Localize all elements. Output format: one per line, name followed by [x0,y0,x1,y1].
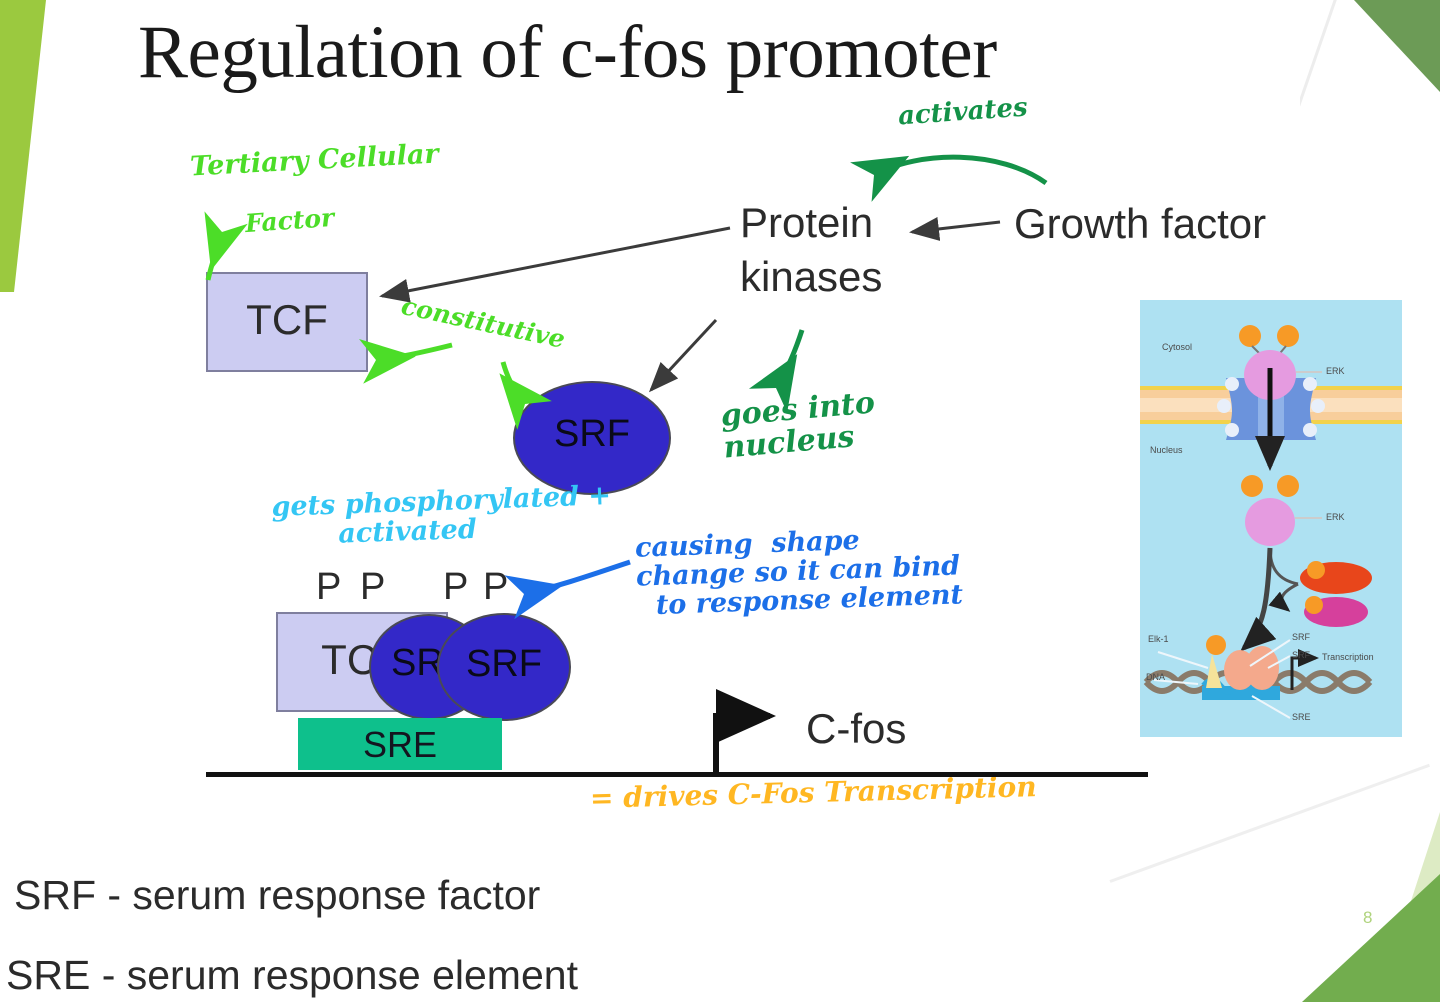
inset-label-srf-a: SRF [1292,632,1310,642]
inset-label-erk-top: ERK [1326,366,1345,376]
inset-label-erk-bottom: ERK [1326,512,1345,522]
srf-ellipse-top: SRF [513,381,671,495]
annotation-constitutive: constitutive [399,292,567,353]
left-green-wedge-decoration [0,0,50,292]
sre-box: SRE [298,718,502,770]
label-cfos: C-fos [806,705,906,753]
annotation-goes-into-nucleus: goes into nucleus [719,387,879,465]
annotation-activates: activates [897,94,1028,131]
phosphate-mark-1: P [316,566,341,609]
label-growth-factor: Growth factor [1014,200,1266,248]
tcf-box-top: TCF [206,272,368,372]
annotation-gets-phosphorylated: gets phosphorylated + activated [271,481,612,551]
inset-figure-graphic [1140,300,1402,737]
srf-ellipse-top-label: SRF [515,413,669,456]
erk-pathway-inset-figure: Cytosol Nucleus ERK ERK Elk-1 DNA SRF SR… [1140,300,1402,737]
legend-sre: SRE - serum response element [6,952,578,999]
sre-box-label: SRE [298,724,502,766]
inset-label-elk1: Elk-1 [1148,634,1169,644]
annotation-tertiary-cellular: Tertiary Cellular [189,140,439,182]
inset-label-srf-b: SRF [1292,650,1310,660]
annotation-factor: Factor [244,204,335,237]
dna-baseline [206,772,1148,777]
inset-label-dna: DNA [1146,672,1165,682]
slide-number: 8 [1363,908,1372,928]
annotation-shape-change: causing shape change so it can bind to r… [635,522,964,621]
bottom-right-corner-decoration [1230,812,1440,1002]
inset-label-cytosol: Cytosol [1162,342,1192,352]
inset-label-transcription: Transcription [1322,652,1374,662]
srf-ellipse-bottom-2: SRF [437,613,571,721]
inset-label-nucleus: Nucleus [1150,445,1183,455]
label-protein-kinases: Protein kinases [740,196,882,304]
bottom-right-dark-green-shape [1230,812,1440,1002]
tcf-box-top-label: TCF [208,296,366,344]
srf-ellipse-bottom-2-label: SRF [439,643,569,686]
slide-canvas: 8 Regulation of c-fos promoter [0,0,1440,1002]
phosphate-mark-2: P [360,566,385,609]
inset-label-sre: SRE [1292,712,1311,722]
legend-srf: SRF - serum response factor [14,872,540,919]
top-right-diagonal-line-decoration [1300,0,1440,200]
phosphate-mark-3: P [443,566,468,609]
phosphate-mark-4: P [483,566,508,609]
page-title: Regulation of c-fos promoter [138,10,997,96]
annotation-drives-transcription: = drives C-Fos Transcription [590,772,1037,814]
